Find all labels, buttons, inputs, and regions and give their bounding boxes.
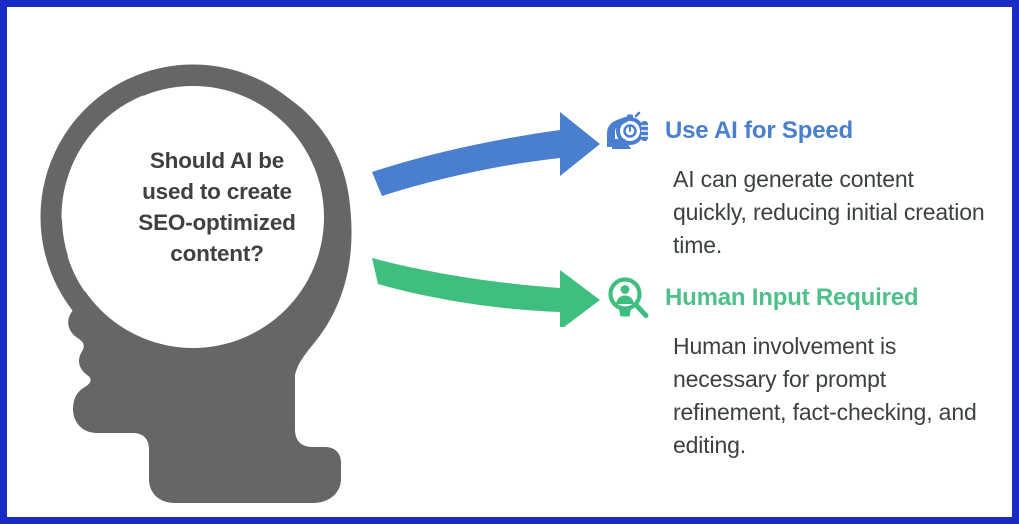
insight-header-human: Human Input Required xyxy=(603,274,1003,322)
insight-body-human: Human involvement is necessary for promp… xyxy=(673,330,993,462)
head-silhouette xyxy=(27,57,387,507)
question-line-3: SEO-optimized xyxy=(111,207,323,238)
arrow-group xyxy=(362,102,612,327)
question-text: Should AI be used to create SEO-optimize… xyxy=(111,145,323,269)
insights-panel: Use AI for Speed AI can generate content… xyxy=(603,107,1003,462)
hand-stopwatch-icon xyxy=(603,108,653,154)
question-line-4: content? xyxy=(111,238,323,269)
infographic-root: Should AI be used to create SEO-optimize… xyxy=(0,0,1019,524)
insight-item-speed: Use AI for Speed AI can generate content… xyxy=(603,107,1003,262)
question-line-1: Should AI be xyxy=(111,145,323,176)
magnifier-person-icon xyxy=(603,275,653,321)
insight-body-speed: AI can generate content quickly, reducin… xyxy=(673,163,993,262)
insight-title-human: Human Input Required xyxy=(665,284,918,312)
insight-header-speed: Use AI for Speed xyxy=(603,107,1003,155)
question-line-2: used to create xyxy=(111,176,323,207)
arrow-to-human-icon xyxy=(372,258,600,327)
insight-title-speed: Use AI for Speed xyxy=(665,117,853,145)
arrow-to-speed-icon xyxy=(372,112,600,196)
insight-item-human: Human Input Required Human involvement i… xyxy=(603,274,1003,462)
